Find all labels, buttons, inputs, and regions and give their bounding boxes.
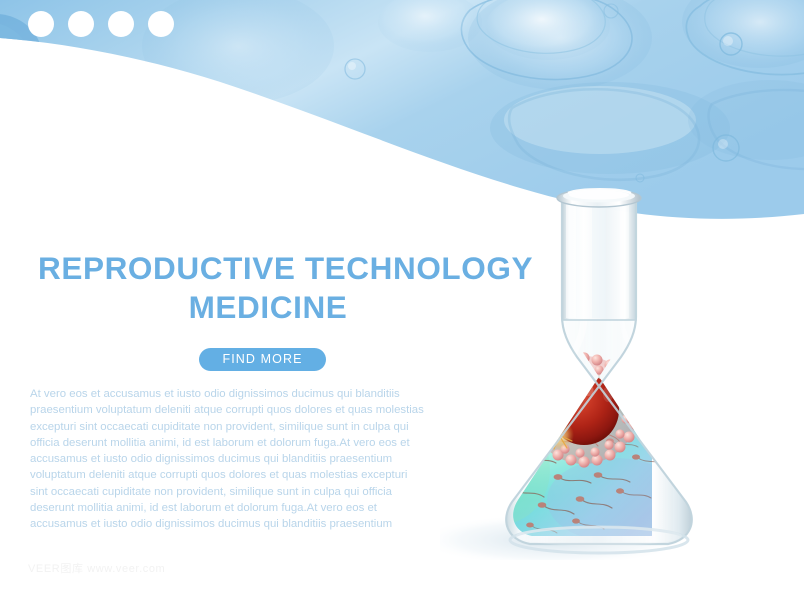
poster-canvas: REPRODUCTIVE TECHNOLOGY MEDICINE FIND MO…: [0, 0, 804, 590]
hero-title: REPRODUCTIVE TECHNOLOGY MEDICINE: [38, 251, 498, 326]
veer-watermark: VEER图库 www.veer.com: [28, 560, 165, 576]
find-more-button[interactable]: FIND MORE: [199, 348, 326, 371]
body-paragraph: At vero eos et accusamus et iusto odio d…: [30, 386, 428, 533]
page-title-line-2: MEDICINE: [38, 289, 498, 326]
page-title-line-1: REPRODUCTIVE TECHNOLOGY: [38, 251, 498, 285]
flask-illustration: [440, 140, 780, 560]
